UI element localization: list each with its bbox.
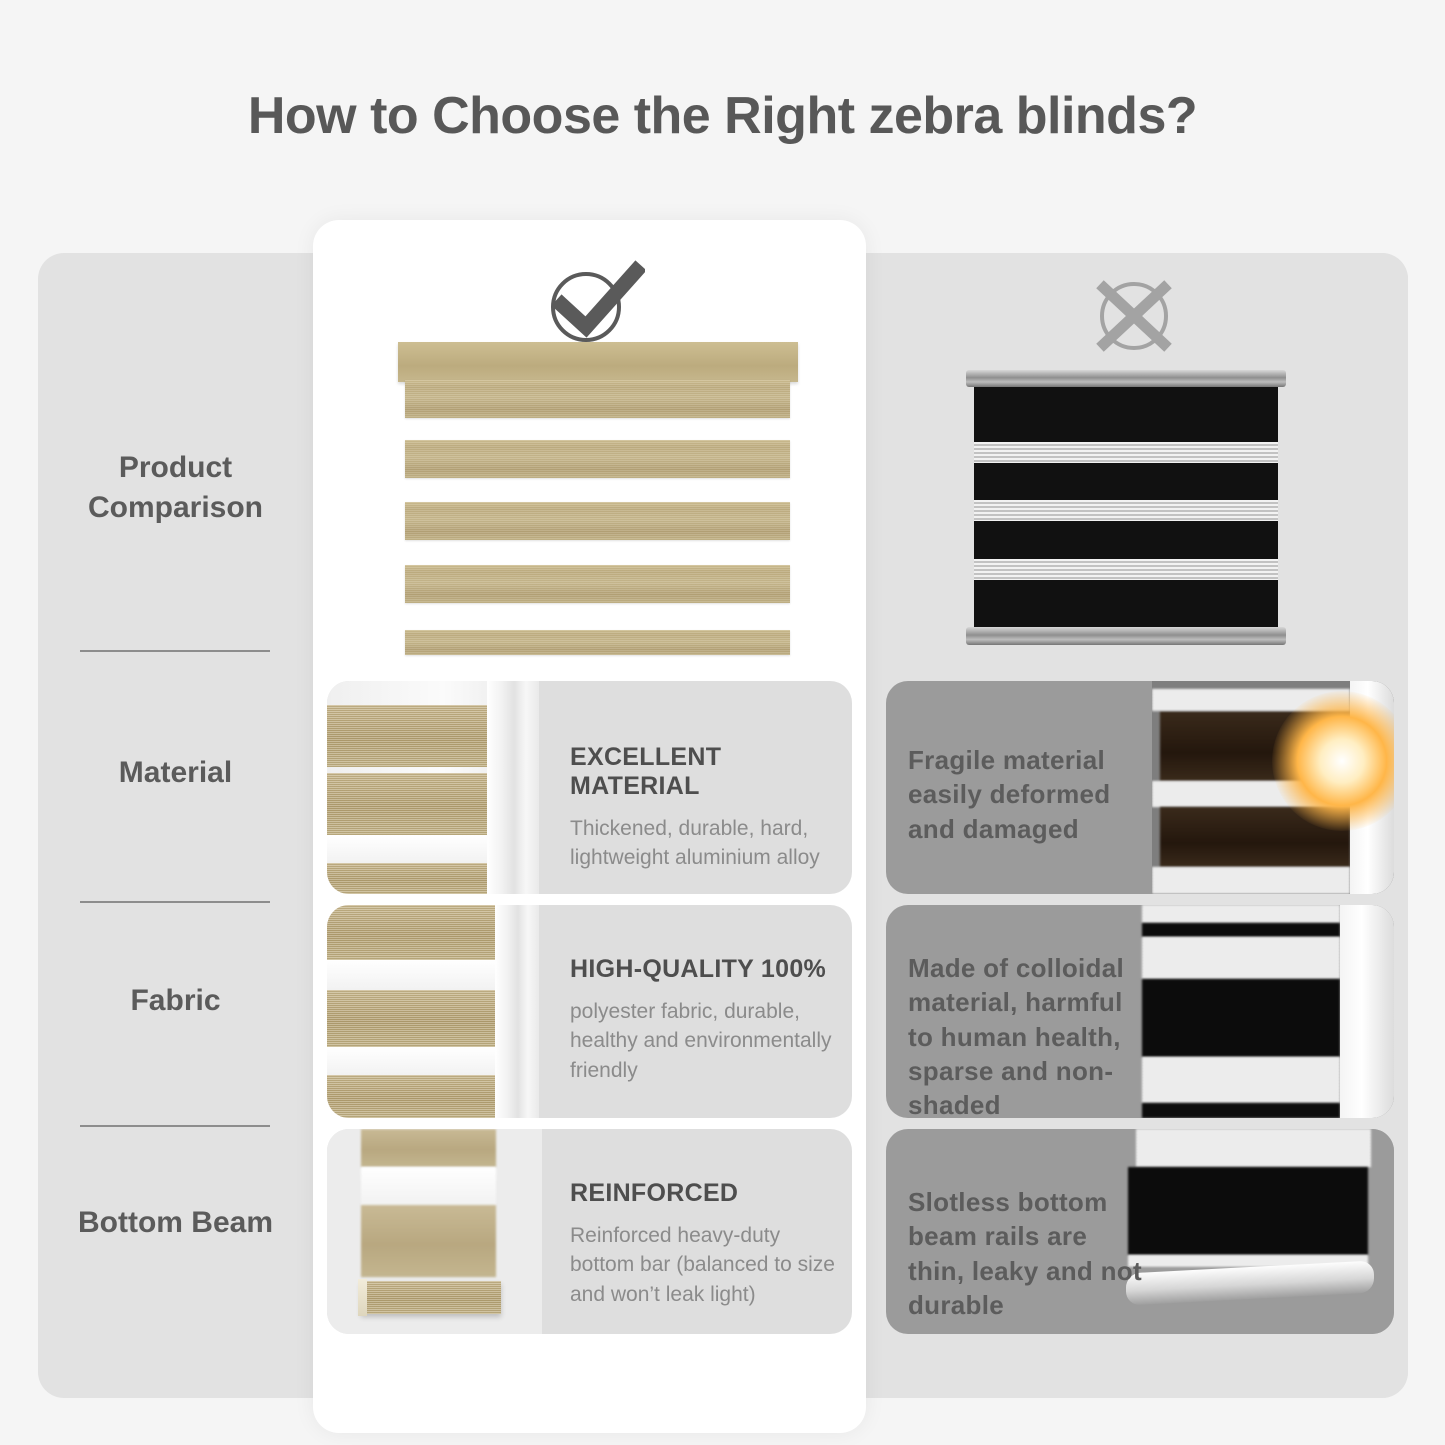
sidebar-divider-3 [80,1125,270,1127]
feature-text-bad-bottom-beam: Slotless bottom beam rails are thin, lea… [908,1185,1143,1322]
sidebar-row-bottom-beam: Bottom Beam [38,1163,313,1283]
black-slat [1128,1167,1368,1255]
window-moulding [487,681,539,894]
feature-text-good-fabric: HIGH-QUALITY 100% polyester fabric, dura… [570,955,838,1085]
sheer-band [327,960,495,990]
feature-photo-good-material [327,681,539,894]
feature-card-bad-fabric: Made of colloidal material, harmful to h… [886,905,1394,1118]
tan-slat-band [361,1205,496,1277]
hero-image-black-zebra-blind [966,370,1286,650]
feature-photo-bad-bottom-beam [1122,1129,1394,1334]
feature-photo-bad-fabric [1132,905,1394,1118]
feature-text-bad-fabric: Made of colloidal material, harmful to h… [908,951,1140,1118]
sheer-band [361,1167,496,1205]
tan-slat-band [327,1075,495,1118]
sidebar-label-bottom-beam: Bottom Beam [78,1203,273,1244]
sidebar-label-fabric: Fabric [130,981,220,1022]
feature-photo-good-bottom-beam [327,1129,542,1334]
black-slat [1142,923,1340,937]
feature-text-good-bottom-beam: REINFORCED Reinforced heavy-duty bottom … [570,1179,845,1309]
tan-slat-band [361,1129,496,1167]
feature-card-good-fabric: HIGH-QUALITY 100% polyester fabric, dura… [327,905,852,1118]
feature-title: Made of colloidal material, harmful to h… [908,951,1140,1118]
bottom-bar-endcap [358,1279,367,1316]
feature-title: EXCELLENT MATERIAL [570,743,835,801]
criteria-sidebar: Product Comparison Material Fabric Botto… [38,253,313,1398]
sidebar-row-product-comparison: Product Comparison [38,408,313,568]
feature-card-good-bottom-beam: REINFORCED Reinforced heavy-duty bottom … [327,1129,852,1334]
feature-photo-good-fabric [327,905,539,1118]
feature-title: Fragile material easily deformed and dam… [908,743,1138,846]
feature-card-bad-bottom-beam: Slotless bottom beam rails are thin, lea… [886,1129,1394,1334]
tan-blind-slat [405,440,790,478]
x-circle-icon [1088,272,1180,360]
black-blind-bottom-rail [966,627,1286,645]
sidebar-label-product-comparison: Product Comparison [38,448,313,529]
feature-body: Reinforced heavy-duty bottom bar (balanc… [570,1221,845,1309]
tan-slat-band [327,773,487,835]
sheer-stripe [1142,1057,1340,1103]
tan-blind-slat [405,565,790,603]
feature-card-bad-material: Fragile material easily deformed and dam… [886,681,1394,894]
page-title: How to Choose the Right zebra blinds? [0,86,1445,146]
tan-slat-band [327,705,503,767]
feature-title: HIGH-QUALITY 100% [570,955,838,984]
reinforced-bottom-bar [361,1281,501,1314]
feature-photo-bad-material [1152,681,1394,894]
sidebar-divider-1 [80,650,270,652]
tan-blind-slat [405,380,790,418]
feature-body: Thickened, durable, hard, lightweight al… [570,814,835,873]
sheer-stripe [974,500,1278,521]
hero-image-tan-zebra-blind [313,330,866,680]
sheer-band [327,1047,495,1075]
tan-slat-band [327,863,487,894]
sheer-stripe [1152,867,1350,894]
tan-slat-band [327,905,495,960]
sheer-stripe [1136,1129,1371,1167]
feature-text-bad-material: Fragile material easily deformed and dam… [908,743,1138,846]
black-slat [1142,1103,1340,1118]
sidebar-row-fabric: Fabric [38,961,313,1041]
sidebar-divider-2 [80,901,270,903]
sheer-stripe [1142,937,1340,979]
sheer-stripe [974,442,1278,463]
tan-blind-bottom-bar [405,630,790,655]
window-moulding [495,905,539,1118]
feature-card-good-material: EXCELLENT MATERIAL Thickened, durable, h… [327,681,852,894]
sidebar-label-material: Material [119,753,232,794]
feature-title: Slotless bottom beam rails are thin, lea… [908,1185,1143,1322]
sheer-stripe [974,559,1278,580]
sheer-stripe [1142,905,1340,923]
feature-title: REINFORCED [570,1179,845,1208]
tan-blind-slat [405,502,790,540]
feature-body: polyester fabric, durable, healthy and e… [570,997,838,1085]
window-frame-edge [1340,905,1394,1118]
tan-slat-band [327,990,495,1047]
sidebar-row-material: Material [38,733,313,813]
sheer-band [327,835,487,863]
black-blind-headrail [966,370,1286,387]
tan-blind-headrail [398,342,798,382]
feature-text-good-material: EXCELLENT MATERIAL Thickened, durable, h… [570,743,835,873]
black-slat [1142,979,1340,1057]
